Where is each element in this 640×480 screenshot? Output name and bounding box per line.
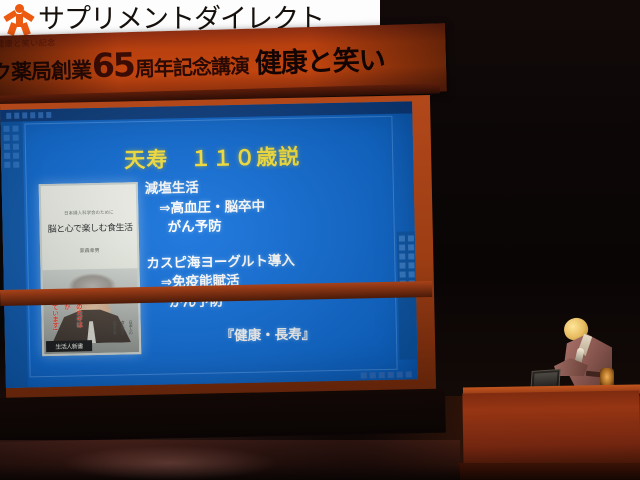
book-vertical-line-2: 食生活と [120,320,126,334]
banner-anniversary-number: 65 [92,52,135,80]
banner-headline: ク薬局創業 65 周年記念講演 健康と笑い [0,38,385,88]
slide-content-area: 天寿 １１０歳説 日本婦人科学会のために 脳と心で楽しむ食生活 家森幸男 握って… [24,116,397,378]
banner-part-c: 健康と笑い [254,38,385,81]
book-title: 脳と心で楽しむ食生活 [47,220,130,235]
banner-subtitle: 健康と笑い記念 [0,37,56,50]
book-vertical-text: 健康長寿 食生活と 日本人の [112,320,134,334]
toolbar-icons [6,112,51,119]
banner-part-b: 周年記念講演 [134,50,249,82]
book-series-band: 生活人新書 [46,340,92,352]
sidebar-icons [3,126,19,168]
wooden-podium [462,390,640,469]
book-vertical-line-3: 健康長寿 [112,321,118,335]
presentation-app-sidebar[interactable] [0,122,28,388]
podium-base [458,463,640,480]
person-figure-icon [2,3,36,35]
book-cover-image: 日本婦人科学会のために 脳と心で楽しむ食生活 家森幸男 握っています! 大豆か … [39,182,142,356]
floor-spotlight [20,440,320,480]
right-toolbar-icons [399,235,415,286]
projected-slide: 天寿 １１０歳説 日本婦人科学会のために 脳と心で楽しむ食生活 家森幸男 握って… [0,101,418,388]
presentation-app-status-icons [361,371,412,378]
banner-part-a: ク薬局創業 [0,54,91,87]
slide-title: 天寿 １１０歳説 [124,141,301,175]
slide-body-text: 減塩生活 ⇒高血圧・脳卒中 がん予防 カスピ海ヨーグルト導入 ⇒免疫能賦活 がん… [145,175,382,349]
photo-slide-presentation: サプリメントダイレクト 健康と笑い記念 ク薬局創業 65 周年記念講演 健康と笑… [0,0,640,480]
projection-screen-frame: 天寿 １１０歳説 日本婦人科学会のために 脳と心で楽しむ食生活 家森幸男 握って… [0,95,436,404]
book-vertical-line-1: 日本人の [128,320,134,334]
slide-closing-text: 『健康・長寿』 [147,308,382,348]
